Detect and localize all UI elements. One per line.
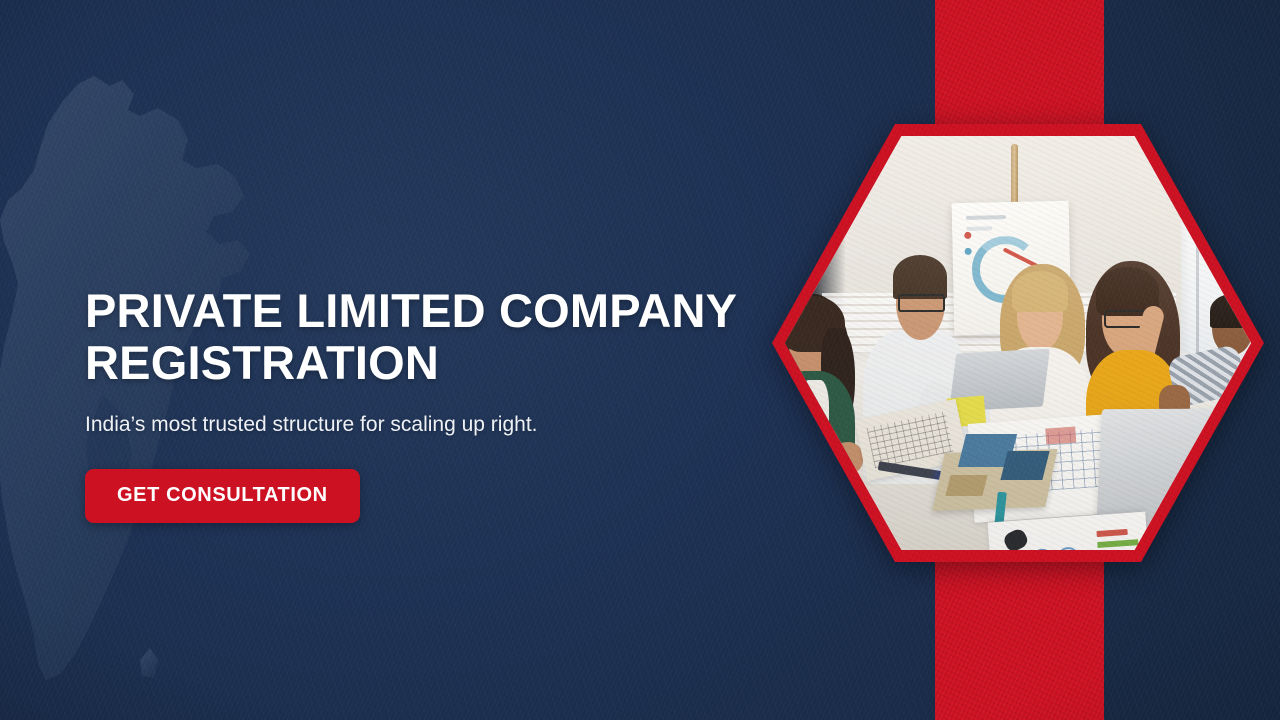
hero-subtitle: India’s most trusted structure for scali… bbox=[85, 411, 785, 439]
hexagon-photo-frame bbox=[772, 124, 1264, 562]
hero-content: PRIVATE LIMITED COMPANY REGISTRATION Ind… bbox=[85, 285, 785, 523]
page-title: PRIVATE LIMITED COMPANY REGISTRATION bbox=[85, 285, 785, 389]
get-consultation-button[interactable]: GET CONSULTATION bbox=[85, 469, 360, 523]
hero-banner: PRIVATE LIMITED COMPANY REGISTRATION Ind… bbox=[0, 0, 1280, 720]
